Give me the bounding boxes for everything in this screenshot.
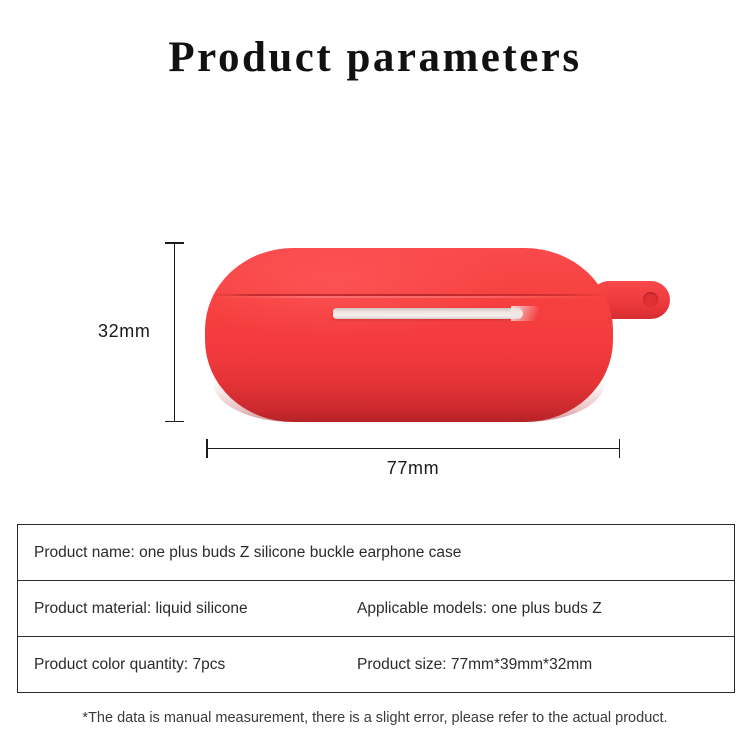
case-front-groove-taper: [511, 306, 541, 321]
spec-product-name: Product name: one plus buds Z silicone b…: [18, 544, 461, 562]
case-lid-seam-highlight: [215, 296, 601, 298]
spec-color-quantity: Product color quantity: 7pcs: [18, 656, 357, 674]
spec-product-size: Product size: 77mm*39mm*32mm: [357, 656, 592, 674]
table-row: Product name: one plus buds Z silicone b…: [18, 525, 734, 581]
page-title: Product parameters: [0, 36, 750, 79]
width-dimension-line: [206, 448, 620, 449]
earphone-case-illustration: [205, 248, 667, 424]
case-bottom-shading: [213, 382, 605, 422]
height-dimension-label: 32mm: [98, 321, 150, 342]
product-figure: 32mm 77mm: [0, 220, 750, 500]
table-row: Product color quantity: 7pcs Product siz…: [18, 637, 734, 692]
table-row: Product material: liquid silicone Applic…: [18, 581, 734, 637]
case-front-groove: [333, 308, 523, 319]
width-dimension-label: 77mm: [206, 458, 620, 479]
measurement-disclaimer: *The data is manual measurement, there i…: [0, 710, 750, 726]
specification-table: Product name: one plus buds Z silicone b…: [17, 524, 735, 693]
case-buckle-hole: [643, 292, 658, 307]
height-dimension-line: [174, 242, 175, 422]
spec-applicable-models: Applicable models: one plus buds Z: [357, 600, 602, 618]
case-body: [205, 248, 613, 422]
spec-product-material: Product material: liquid silicone: [18, 600, 357, 618]
